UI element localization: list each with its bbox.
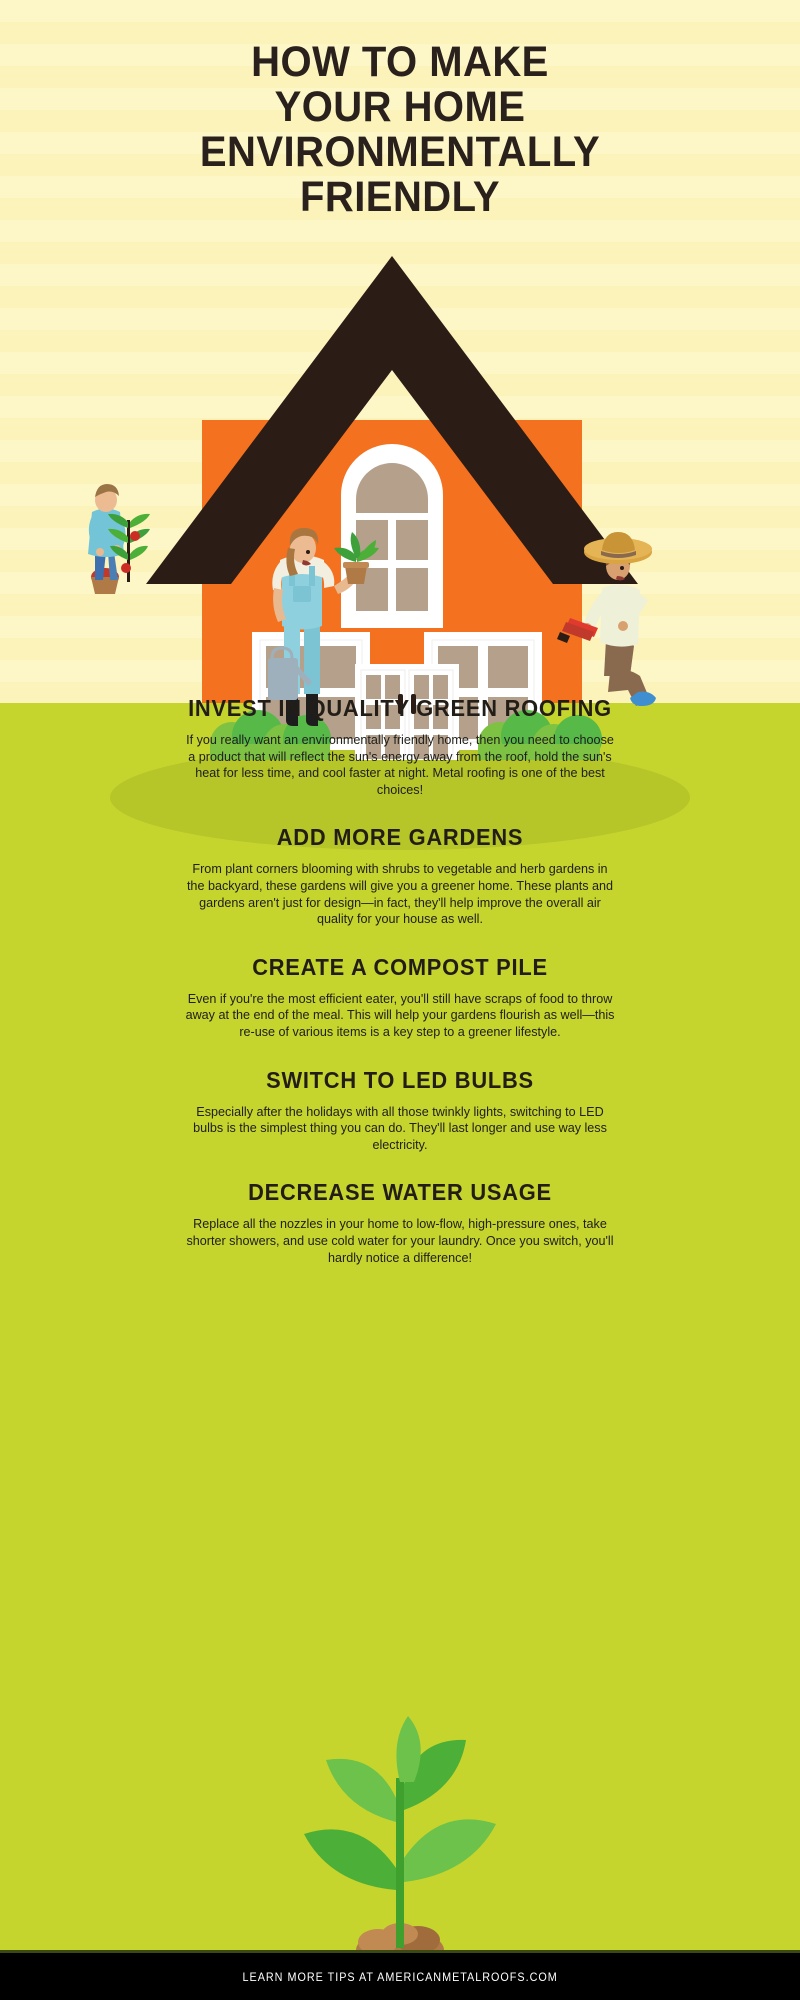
footer-bar: LEARN MORE TIPS AT AMERICANMETALROOFS.CO… [0,1953,800,2000]
leaf-right-lower [404,1819,496,1882]
tip-section: SWITCH TO LED BULBS Especially after the… [0,1067,800,1154]
tips-list: INVEST IN QUALITY GREEN ROOFING If you r… [0,695,800,1292]
leaf-left-lower [304,1829,396,1890]
stem [396,1778,404,1948]
leaf-top [396,1716,420,1782]
footer-divider [0,1950,800,1953]
attic-arched-window [341,444,443,628]
character-man-planting-tomato [88,484,150,594]
title-line-4: FRIENDLY [28,175,772,220]
tip-heading: CREATE A COMPOST PILE [20,954,780,981]
page-title: HOW TO MAKE YOUR HOME ENVIRONMENTALLY FR… [28,40,772,220]
tip-body: If you really want an environmentally fr… [185,732,615,798]
title-line-3: ENVIRONMENTALLY [28,130,772,175]
tip-section: DECREASE WATER USAGE Replace all the noz… [0,1179,800,1266]
tip-body: Even if you're the most efficient eater,… [185,991,615,1041]
tip-section: CREATE A COMPOST PILE Even if you're the… [0,954,800,1041]
seedling-illustration [0,1370,800,1985]
tip-section: INVEST IN QUALITY GREEN ROOFING If you r… [0,695,800,798]
title-line-1: HOW TO MAKE [28,40,772,85]
footer-text: LEARN MORE TIPS AT AMERICANMETALROOFS.CO… [242,1970,557,1984]
tip-body: Replace all the nozzles in your home to … [185,1216,615,1266]
title-line-2: YOUR HOME [28,85,772,130]
leaf-left-upper [326,1759,396,1822]
tip-heading: INVEST IN QUALITY GREEN ROOFING [20,695,780,722]
tip-heading: SWITCH TO LED BULBS [20,1067,780,1094]
tip-body: Especially after the holidays with all t… [185,1104,615,1154]
tip-body: From plant corners blooming with shrubs … [185,861,615,927]
tip-section: ADD MORE GARDENS From plant corners bloo… [0,824,800,927]
tip-heading: DECREASE WATER USAGE [20,1179,780,1206]
tip-heading: ADD MORE GARDENS [20,824,780,851]
